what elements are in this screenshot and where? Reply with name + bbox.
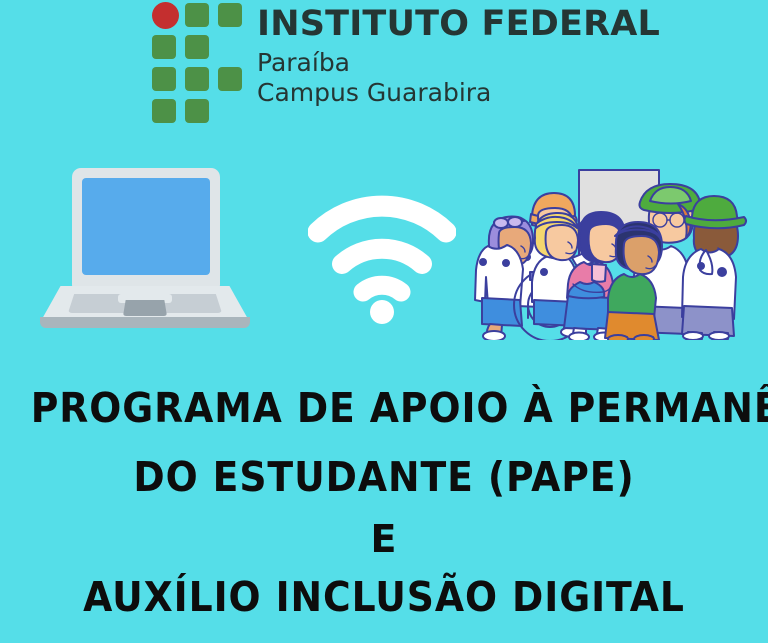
laptop-foot xyxy=(40,317,250,328)
headline-line-1: PROGRAMA DE APOIO À PERMANÊNCIA xyxy=(31,386,738,430)
poster-canvas: INSTITUTO FEDERAL Paraíba Campus Guarabi… xyxy=(0,0,768,643)
instituto-federal-mark-icon xyxy=(152,2,242,124)
institutional-logo: INSTITUTO FEDERAL Paraíba Campus Guarabi… xyxy=(152,2,622,127)
logo-state-name: Paraíba xyxy=(257,48,627,78)
logo-wordmark: INSTITUTO FEDERAL Paraíba Campus Guarabi… xyxy=(257,2,627,108)
laptop-screen xyxy=(82,178,210,275)
headline-line-2: DO ESTUDANTE (PAPE) xyxy=(31,455,738,499)
wifi-signal-icon xyxy=(308,192,456,324)
laptop-illustration xyxy=(30,168,260,333)
headline-line-4: AUXÍLIO INCLUSÃO DIGITAL xyxy=(31,575,738,619)
laptop-trackpad xyxy=(123,300,167,316)
headline-line-3: E xyxy=(0,519,768,559)
logo-institution-name: INSTITUTO FEDERAL xyxy=(257,2,627,46)
logo-campus-name: Campus Guarabira xyxy=(257,78,627,108)
diverse-students-illustration: .ol { stroke:#3b3f9e; stroke-width:2; st… xyxy=(472,160,768,340)
